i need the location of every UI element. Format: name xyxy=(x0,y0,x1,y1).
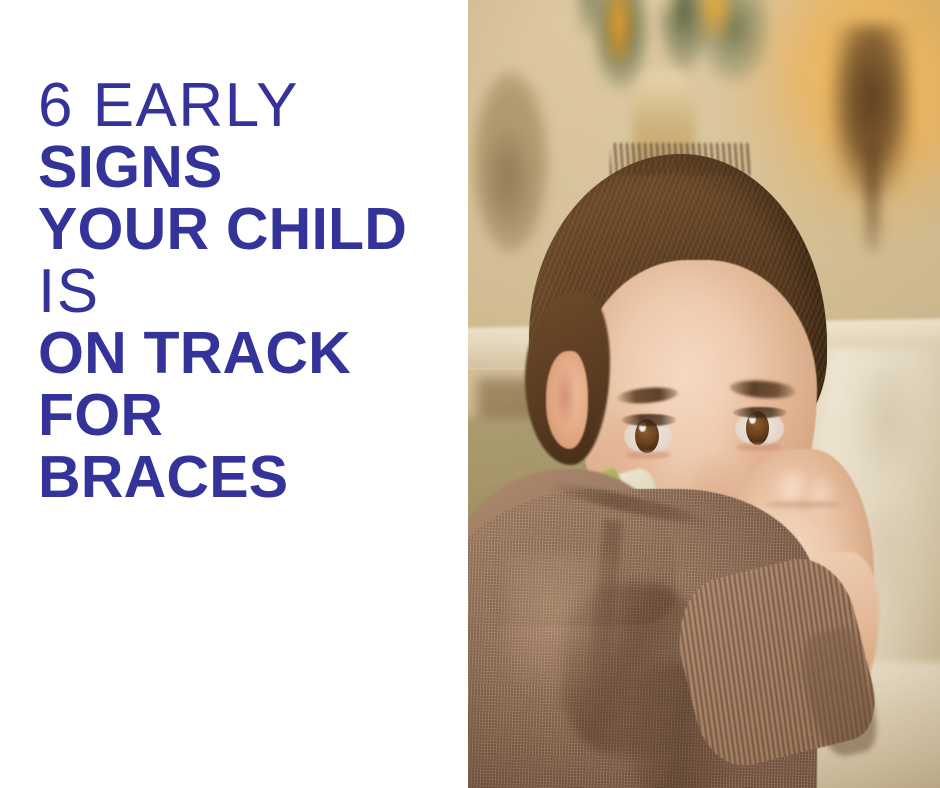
child-ear-inner xyxy=(555,369,576,424)
photo-scene xyxy=(468,0,940,788)
headline-line-5: ON TRACK xyxy=(38,325,458,383)
headline-line-2: SIGNS xyxy=(38,139,458,197)
headline-line-6: FOR xyxy=(38,387,458,445)
child-photo xyxy=(468,0,940,788)
headline-panel: 6 EARLY SIGNS YOUR CHILD IS ON TRACK FOR… xyxy=(0,0,468,788)
child-eyelash-right xyxy=(733,407,787,418)
child-underlid-right xyxy=(736,443,781,451)
headline-block: 6 EARLY SIGNS YOUR CHILD IS ON TRACK FOR… xyxy=(38,76,458,511)
child-underlid-left xyxy=(626,451,671,459)
headline-line-1: 6 EARLY xyxy=(38,76,458,137)
child-figure xyxy=(468,0,940,788)
poster-canvas: 6 EARLY SIGNS YOUR CHILD IS ON TRACK FOR… xyxy=(0,0,940,788)
headline-line-3: YOUR CHILD xyxy=(38,201,458,259)
child-eyelash-left xyxy=(622,414,676,425)
child-hair-wisps xyxy=(610,143,752,175)
headline-line-7: BRACES xyxy=(38,449,458,507)
headline-line-4: IS xyxy=(38,262,458,323)
